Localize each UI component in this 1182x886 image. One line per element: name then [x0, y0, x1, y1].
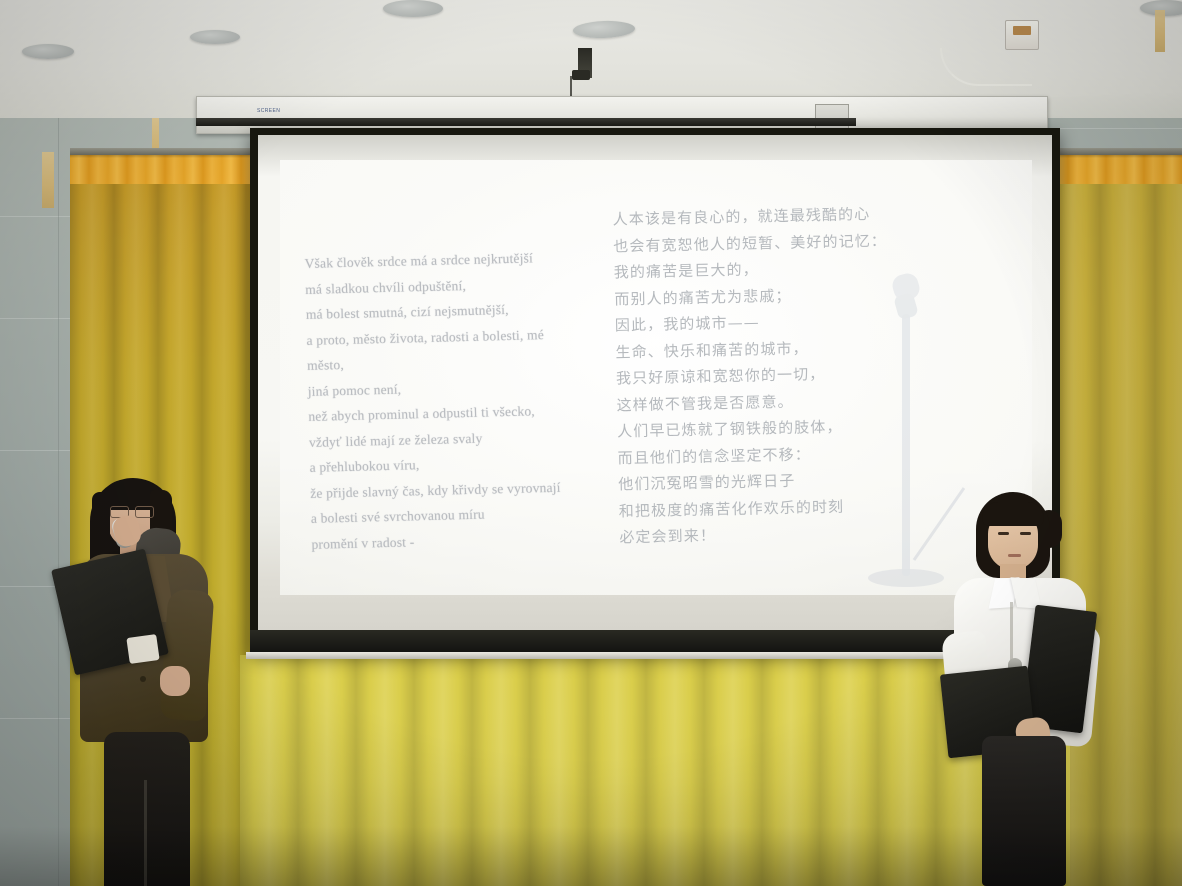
wall-tape-strip	[42, 152, 54, 208]
hand-right	[160, 666, 190, 696]
downlight-icon	[22, 44, 74, 59]
hair-fringe	[982, 502, 1044, 526]
slide-poem-chinese: 人本该是有良心的，就连最残酷的心 也会有宽恕他人的短暂、美好的记忆： 我的痛苦是…	[612, 200, 949, 551]
outlet-slot	[1013, 26, 1031, 35]
eye-left	[998, 532, 1009, 535]
held-paper	[126, 634, 159, 664]
downlight-icon	[190, 30, 240, 44]
ceiling-mount-bracket-icon	[578, 48, 592, 78]
slide-poem-czech: Však člověk srdce má a srdce nejkrutější…	[304, 243, 631, 557]
right-presenter	[940, 492, 1110, 886]
mouth	[1008, 554, 1021, 557]
left-presenter	[68, 470, 228, 886]
eye-right	[1020, 532, 1031, 535]
housing-brand-label: SCREEN	[257, 108, 280, 114]
wall-outlet-icon	[1005, 20, 1039, 50]
presentation-slide: Však člověk srdce má a srdce nejkrutější…	[258, 135, 1052, 643]
presentation-photo-scene: SCREEN electric roll-up Však člověk srdc…	[0, 0, 1182, 886]
trouser-seam	[144, 780, 147, 886]
trousers	[104, 732, 190, 886]
skirt-and-trousers	[982, 736, 1066, 886]
blazer-button	[140, 676, 146, 682]
wall-tape-strip	[1155, 10, 1165, 52]
downlight-icon	[383, 0, 443, 17]
glasses-icon	[110, 506, 154, 516]
wall-seam	[58, 118, 59, 886]
screen-bottom-bar	[250, 630, 1060, 654]
screen-housing-underbar	[196, 118, 856, 126]
arm-right	[160, 589, 215, 722]
